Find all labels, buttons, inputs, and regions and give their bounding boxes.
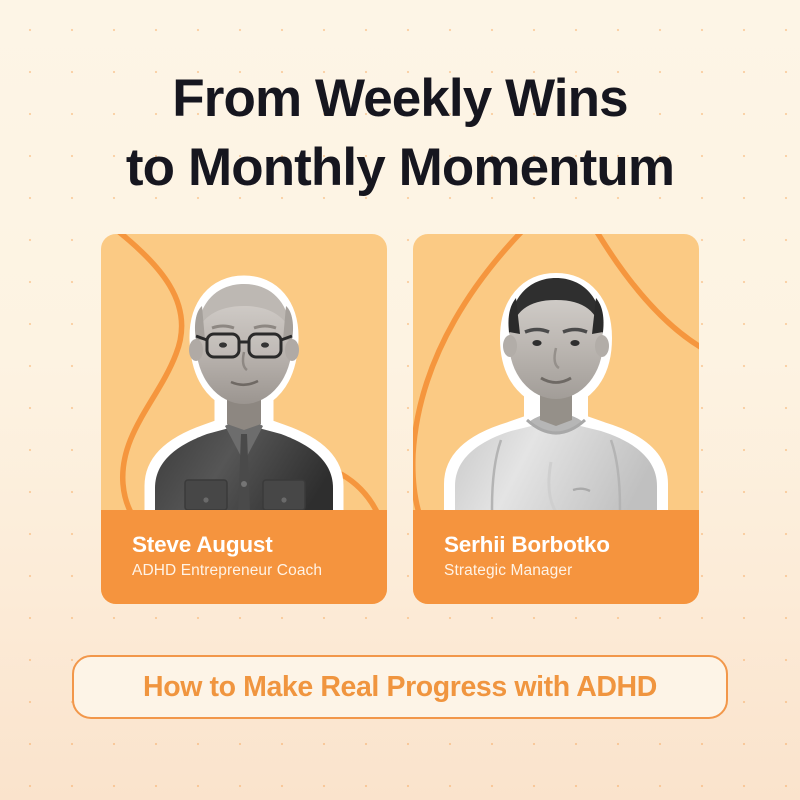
- subtitle-banner-label: How to Make Real Progress with ADHD: [143, 671, 657, 704]
- title-line-1: From Weekly Wins: [0, 64, 800, 133]
- speaker-role: ADHD Entrepreneur Coach: [132, 560, 387, 582]
- speaker-footer: Serhii Borbotko Strategic Manager: [413, 510, 699, 604]
- subtitle-banner[interactable]: How to Make Real Progress with ADHD: [72, 655, 728, 719]
- speaker-card-list: Steve August ADHD Entrepreneur Coach: [101, 234, 699, 604]
- speaker-footer: Steve August ADHD Entrepreneur Coach: [101, 510, 387, 604]
- speaker-role: Strategic Manager: [444, 560, 699, 582]
- speaker-name: Steve August: [132, 532, 387, 558]
- title-line-2: to Monthly Momentum: [0, 133, 800, 202]
- page-title: From Weekly Wins to Monthly Momentum: [0, 64, 800, 202]
- speaker-photo: [101, 248, 387, 538]
- webinar-promo-canvas: From Weekly Wins to Monthly Momentum: [0, 0, 800, 800]
- speaker-card[interactable]: Serhii Borbotko Strategic Manager: [413, 234, 699, 604]
- speaker-photo: [413, 248, 699, 538]
- speaker-card[interactable]: Steve August ADHD Entrepreneur Coach: [101, 234, 387, 604]
- speaker-name: Serhii Borbotko: [444, 532, 699, 558]
